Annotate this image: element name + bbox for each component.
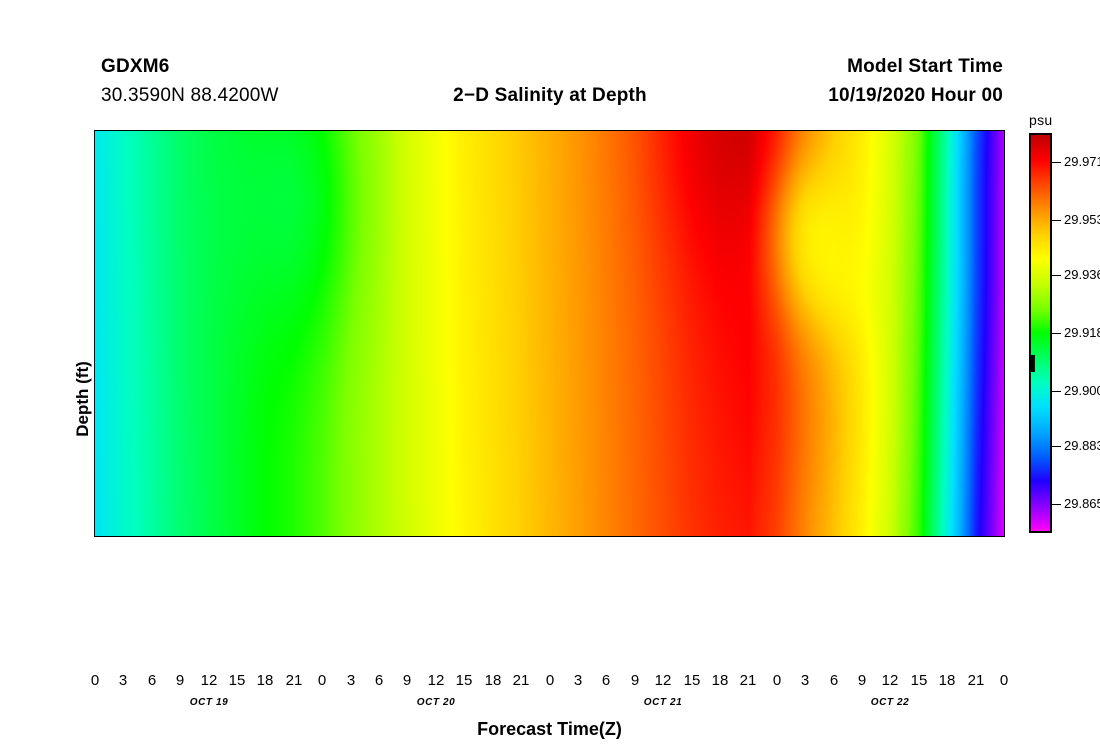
salinity-heatmap	[95, 131, 1004, 536]
colorbar-gradient	[1031, 135, 1050, 531]
model-start-value: 10/19/2020 Hour 00	[828, 85, 1003, 107]
colorbar-tick-label: 29.971	[1064, 154, 1100, 169]
colorbar-tick	[1052, 162, 1061, 163]
colorbar-tick-label: 29.865	[1064, 496, 1100, 511]
y-axis-title: Depth (ft)	[73, 361, 93, 437]
colorbar-tick-label: 29.900	[1064, 383, 1100, 398]
colorbar-tick	[1052, 275, 1061, 276]
colorbar-marker	[1029, 355, 1035, 372]
colorbar-tick	[1052, 446, 1061, 447]
colorbar-tick	[1052, 333, 1061, 334]
x-tick-label: 0	[984, 672, 1024, 689]
colorbar-tick	[1052, 391, 1061, 392]
colorbar-tick-label: 29.953	[1064, 212, 1100, 227]
model-start-label: Model Start Time	[847, 56, 1003, 78]
colorbar	[1029, 133, 1052, 533]
station-id: GDXM6	[101, 56, 170, 78]
colorbar-tick-label: 29.918	[1064, 325, 1100, 340]
colorbar-tick	[1052, 220, 1061, 221]
colorbar-tick	[1052, 504, 1061, 505]
x-axis-title: Forecast Time(Z)	[95, 719, 1004, 740]
x-day-label: OCT 19	[164, 697, 254, 708]
plot-area: Depth (ft) Forecast Time(Z) 036912151821…	[94, 130, 1005, 537]
salinity-depth-figure: GDXM6 30.3590N 88.4200W 2−D Salinity at …	[0, 0, 1100, 750]
colorbar-units: psu	[1029, 112, 1052, 128]
colorbar-tick-label: 29.883	[1064, 438, 1100, 453]
x-day-label: OCT 21	[618, 697, 708, 708]
colorbar-tick-label: 29.936	[1064, 267, 1100, 282]
x-day-label: OCT 22	[845, 697, 935, 708]
x-day-label: OCT 20	[391, 697, 481, 708]
